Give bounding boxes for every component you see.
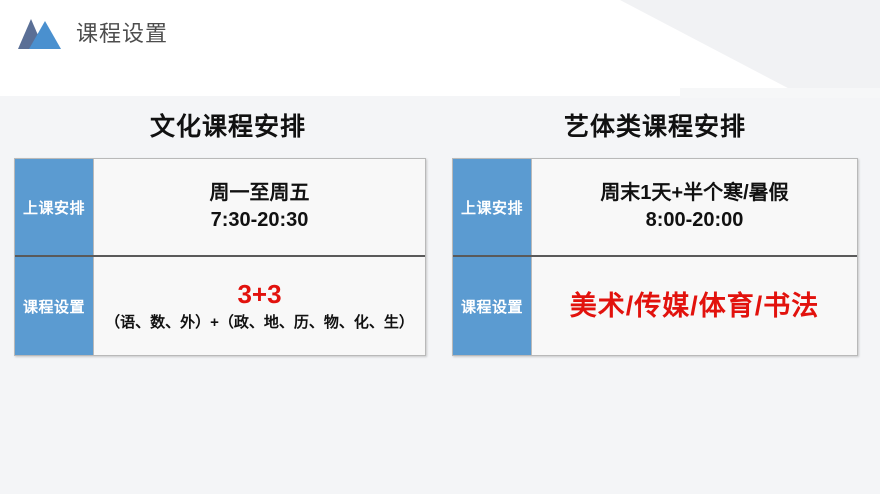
row-label-course-setup: 课程设置 — [15, 257, 93, 355]
schedule-days: 周一至周五 — [210, 180, 310, 207]
table-arts-sports-courses: 上课安排 周末1天+半个寒/暑假 8:00-20:00 课程设置 美术/传媒/体… — [452, 158, 858, 356]
brand-header: 课程设置 — [18, 12, 168, 56]
schedule-hours: 7:30-20:30 — [211, 207, 309, 234]
slide-root: 课程设置 文化课程安排 艺体类课程安排 上课安排 周一至周五 7:30-20:3… — [0, 0, 880, 494]
course-subject-list: （语、数、外）+（政、地、历、物、化、生） — [105, 312, 414, 333]
table-row: 上课安排 周一至周五 7:30-20:30 — [15, 159, 425, 257]
table-cultural-courses: 上课安排 周一至周五 7:30-20:30 课程设置 3+3 （语、数、外）+（… — [14, 158, 426, 356]
section-title-cultural: 文化课程安排 — [14, 112, 442, 142]
schedule-days: 周末1天+半个寒/暑假 — [600, 180, 788, 207]
background-diagonal-accent-secondary — [680, 88, 880, 98]
row-content-class-schedule: 周一至周五 7:30-20:30 — [93, 159, 425, 255]
schedule-hours: 8:00-20:00 — [646, 207, 744, 234]
course-categories-highlight: 美术/传媒/体育/书法 — [570, 290, 820, 322]
table-row: 课程设置 美术/传媒/体育/书法 — [453, 257, 857, 355]
course-model-highlight: 3+3 — [237, 279, 281, 310]
table-row: 上课安排 周末1天+半个寒/暑假 8:00-20:00 — [453, 159, 857, 257]
row-label-class-schedule: 上课安排 — [453, 159, 531, 255]
row-label-course-setup: 课程设置 — [453, 257, 531, 355]
row-content-class-schedule: 周末1天+半个寒/暑假 8:00-20:00 — [531, 159, 857, 255]
table-row: 课程设置 3+3 （语、数、外）+（政、地、历、物、化、生） — [15, 257, 425, 355]
page-title: 课程设置 — [76, 23, 168, 45]
section-title-arts-sports: 艺体类课程安排 — [452, 112, 858, 142]
row-content-course-setup: 美术/传媒/体育/书法 — [531, 257, 857, 355]
row-label-class-schedule: 上课安排 — [15, 159, 93, 255]
mountain-logo-icon — [18, 16, 64, 52]
row-content-course-setup: 3+3 （语、数、外）+（政、地、历、物、化、生） — [93, 257, 425, 355]
